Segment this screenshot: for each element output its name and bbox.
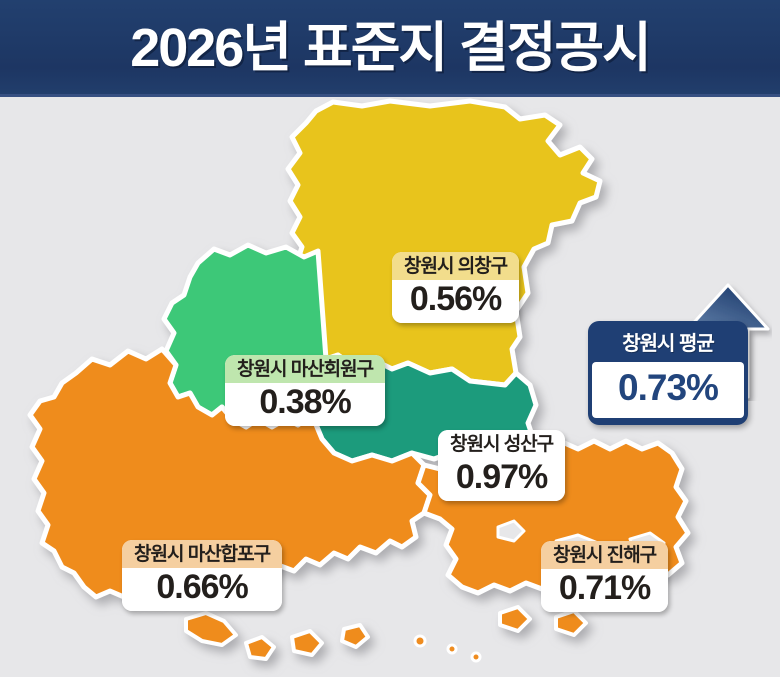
region-callout-jinhae[interactable]: 창원시 진해구 0.71% xyxy=(541,541,668,612)
region-value-label: 0.56% xyxy=(392,280,519,323)
average-badge[interactable]: 창원시 평균 0.73% xyxy=(588,281,773,416)
map-island xyxy=(186,613,236,645)
region-callout-seongsan[interactable]: 창원시 성산구 0.97% xyxy=(438,430,565,501)
region-value-label: 0.38% xyxy=(225,383,385,426)
map-stage: 창원시 의창구 0.56% 창원시 마산회원구 0.38% 창원시 성산구 0.… xyxy=(0,97,780,677)
map-region-uichang[interactable] xyxy=(288,101,600,385)
map-island xyxy=(246,637,274,659)
map-island xyxy=(292,631,322,655)
region-callout-masanhappo[interactable]: 창원시 마산합포구 0.66% xyxy=(122,540,282,611)
region-value-label: 0.71% xyxy=(541,569,668,612)
region-name-label: 창원시 마산합포구 xyxy=(122,540,282,568)
map-island xyxy=(472,653,480,661)
average-label: 창원시 평균 xyxy=(588,321,748,362)
region-name-label: 창원시 진해구 xyxy=(541,541,668,569)
average-value: 0.73% xyxy=(592,362,744,418)
region-name-label: 창원시 성산구 xyxy=(438,430,565,458)
map-island xyxy=(415,636,425,646)
infographic-poster: 2026년 표준지 결정공시 xyxy=(0,0,780,677)
page-title: 2026년 표준지 결정공시 xyxy=(0,12,780,84)
map-island xyxy=(556,611,586,635)
region-value-label: 0.97% xyxy=(438,458,565,501)
map-island xyxy=(448,645,456,653)
region-callout-masanhoewon[interactable]: 창원시 마산회원구 0.38% xyxy=(225,355,385,426)
region-value-label: 0.66% xyxy=(122,568,282,611)
average-value-box[interactable]: 창원시 평균 0.73% xyxy=(588,321,748,425)
region-callout-uichang[interactable]: 창원시 의창구 0.56% xyxy=(392,252,519,323)
map-island xyxy=(342,625,368,647)
region-name-label: 창원시 마산회원구 xyxy=(225,355,385,383)
header-banner: 2026년 표준지 결정공시 xyxy=(0,0,780,97)
region-name-label: 창원시 의창구 xyxy=(392,252,519,280)
map-island xyxy=(500,607,530,631)
